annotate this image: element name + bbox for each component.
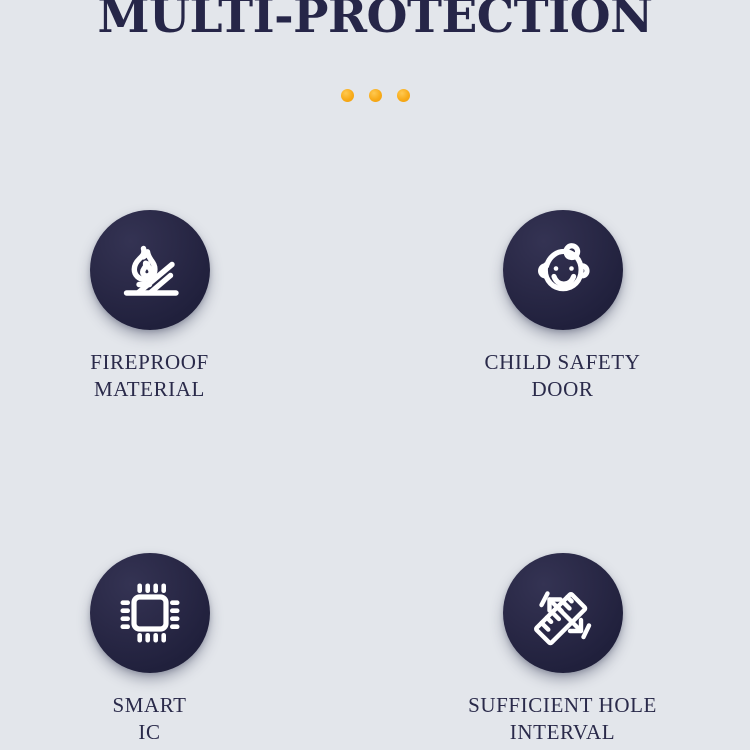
feature-caption: CHILD SAFETY DOOR [485,349,641,403]
feature-caption: SUFFICIENT HOLE INTERVAL [468,692,657,746]
feature-icon-badge [503,553,623,673]
feature-item-sufficient-hole-interval: SUFFICIENT HOLE INTERVAL [375,553,750,746]
feature-caption-line-2: INTERVAL [468,719,657,746]
divider-dot-icon [341,89,354,102]
divider-dot-icon [369,89,382,102]
feature-caption-line-2: DOOR [485,376,641,403]
smart-ic-chip-icon [113,576,187,650]
feature-icon-badge [503,210,623,330]
feature-item-child-safety-door: CHILD SAFETY DOOR [375,210,750,553]
feature-item-fireproof-material: FIREPROOF MATERIAL [0,210,375,553]
child-safety-door-icon [525,232,601,308]
feature-caption-line-1: SUFFICIENT HOLE [468,692,657,719]
feature-item-smart-ic: SMART IC [0,553,375,746]
feature-grid: FIREPROOF MATERIAL [0,210,750,746]
feature-icon-badge [90,553,210,673]
feature-caption: SMART IC [112,692,186,746]
multi-protection-feature-panel: MULTI-PROTECTION [0,0,750,750]
sufficient-hole-interval-icon [525,575,601,651]
page-title: MULTI-PROTECTION [0,0,750,44]
fireproof-material-icon [112,232,188,308]
divider-dot-icon [397,89,410,102]
dot-divider [0,89,750,102]
feature-caption: FIREPROOF MATERIAL [90,349,209,403]
feature-caption-line-1: CHILD SAFETY [485,349,641,376]
feature-caption-line-2: IC [112,719,186,746]
feature-caption-line-2: MATERIAL [90,376,209,403]
feature-icon-badge [90,210,210,330]
feature-caption-line-1: SMART [112,692,186,719]
feature-caption-line-1: FIREPROOF [90,349,209,376]
